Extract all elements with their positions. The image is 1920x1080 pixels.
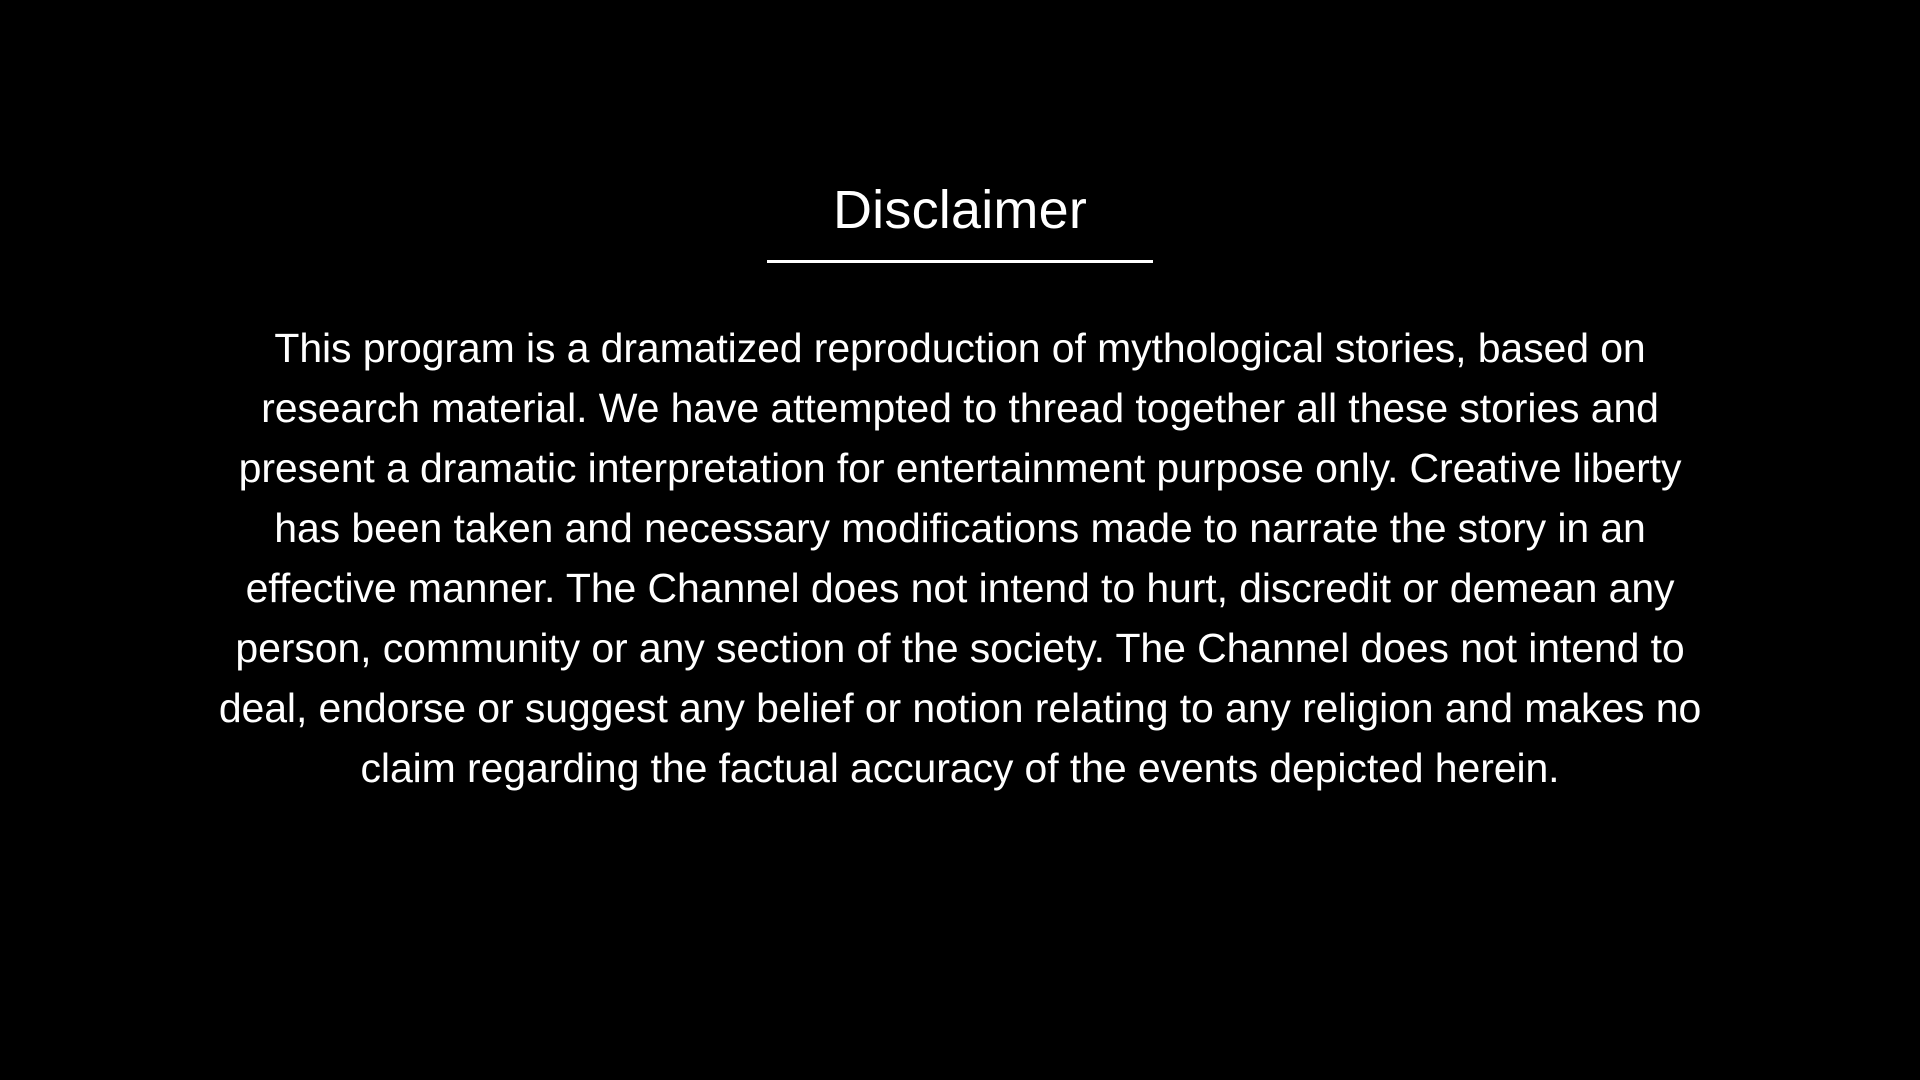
disclaimer-line: claim regarding the factual accuracy of … xyxy=(135,738,1785,798)
page-title: Disclaimer xyxy=(833,178,1087,254)
title-divider xyxy=(767,260,1153,263)
disclaimer-text-block: This program is a dramatized reproductio… xyxy=(135,318,1785,798)
title-block: Disclaimer xyxy=(0,178,1920,263)
disclaimer-line: This program is a dramatized reproductio… xyxy=(135,318,1785,378)
disclaimer-line: research material. We have attempted to … xyxy=(135,378,1785,438)
disclaimer-line: effective manner. The Channel does not i… xyxy=(135,558,1785,618)
disclaimer-line: person, community or any section of the … xyxy=(135,618,1785,678)
disclaimer-line: deal, endorse or suggest any belief or n… xyxy=(135,678,1785,738)
disclaimer-line: has been taken and necessary modificatio… xyxy=(135,498,1785,558)
disclaimer-slide: Disclaimer This program is a dramatized … xyxy=(0,0,1920,1080)
disclaimer-line: present a dramatic interpretation for en… xyxy=(135,438,1785,498)
